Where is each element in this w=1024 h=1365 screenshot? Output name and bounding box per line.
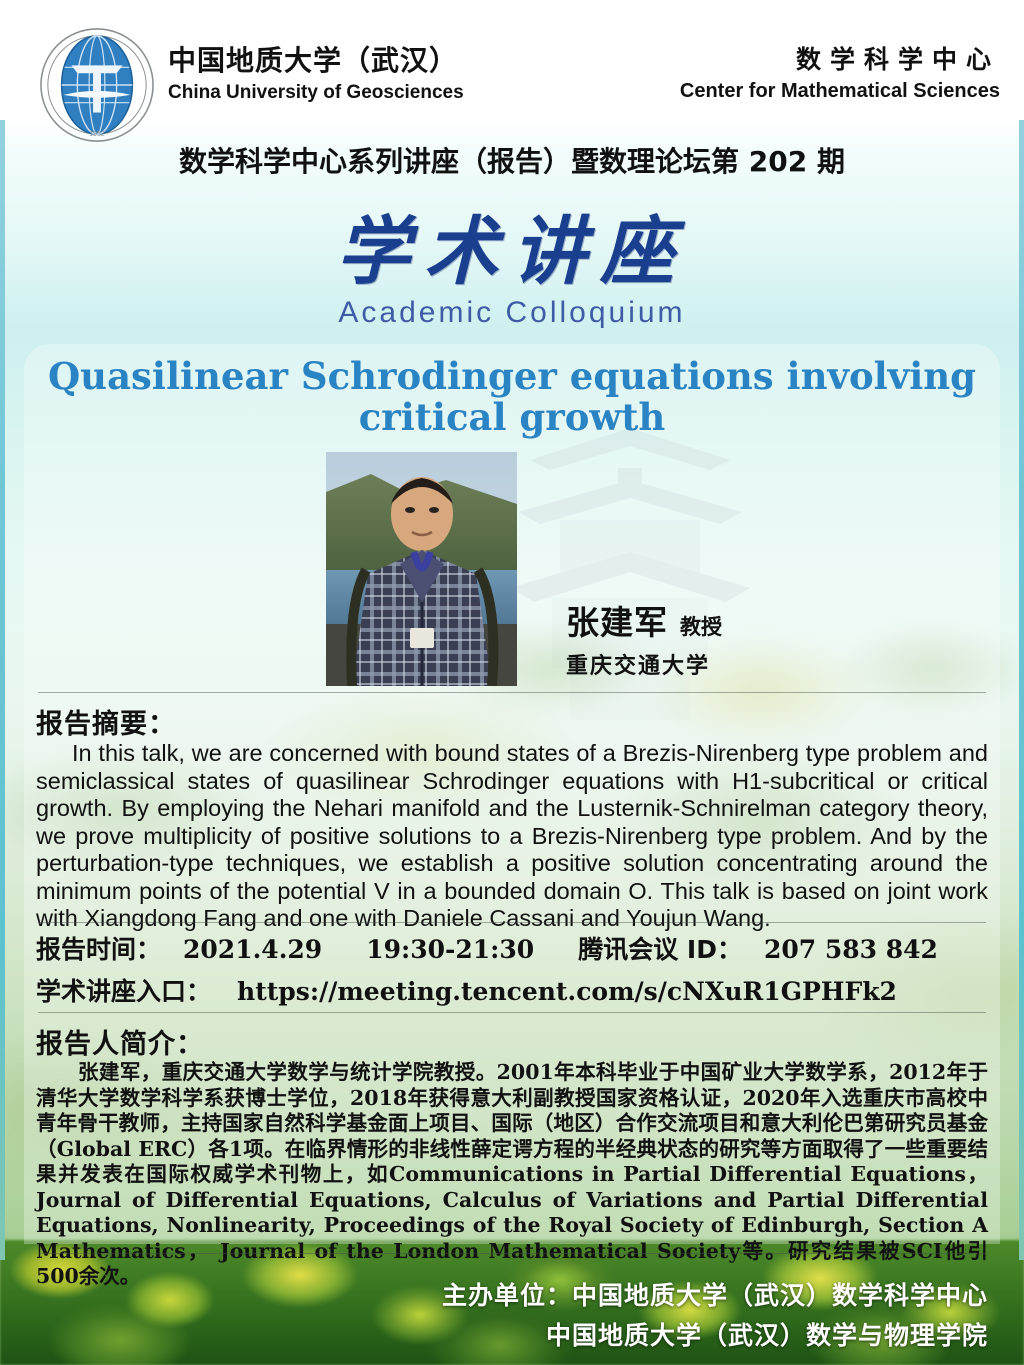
organizer-line-1: 主办单位：中国地质大学（武汉）数学科学中心 [0,1276,988,1316]
talk-time-range: 19:30-21:30 [366,935,534,964]
organizers-footer: 主办单位：中国地质大学（武汉）数学科学中心 中国地质大学（武汉）数学与物理学院 [0,1276,1024,1356]
talk-title: Quasilinear Schrodinger equations involv… [40,356,984,438]
divider-above-bio [38,1012,986,1013]
center-name-en: Center for Mathematical Sciences [680,78,1000,104]
university-name-en: China University of Geosciences [168,80,464,106]
university-name-cn: 中国地质大学（武汉） [168,44,464,78]
divider-above-abstract [38,692,986,693]
poster-header: 1952 中国地质大学（武汉） China University of Geos… [0,0,1024,120]
speaker-portrait-image [326,452,517,686]
series-line: 数学科学中心系列讲座（报告）暨数理论坛第 202 期 [0,140,1024,180]
poster-root: 1952 中国地质大学（武汉） China University of Geos… [0,0,1024,1365]
speaker-photo [326,452,517,686]
bio-label: 报告人简介： [36,1022,204,1061]
talk-date: 2021.4.29 [183,935,322,964]
speaker-affiliation: 重庆交通大学 [566,648,710,680]
divider-below-bio [38,1253,986,1254]
organizer-line-2: 中国地质大学（武汉）数学与物理学院 [0,1316,988,1356]
speaker-academic-title: 教授 [680,615,722,639]
center-identity: 数学科学中心 Center for Mathematical Sciences [680,44,1000,104]
speaker-name: 张建军 [566,603,668,642]
meeting-id-label: 腾讯会议 ID： [578,935,742,964]
center-name-cn: 数学科学中心 [680,44,1000,76]
link-label: 学术讲座入口： [36,977,211,1006]
brush-title: 学术讲座 [0,192,1024,299]
brush-subtitle: Academic Colloquium [0,296,1024,330]
speaker-name-row: 张建军教授 [566,596,722,644]
time-label: 报告时间： [36,935,161,964]
svg-text:1952: 1952 [89,131,104,138]
poster-right-edge [1019,0,1024,1260]
abstract-label: 报告摘要： [36,702,176,741]
cug-globe-logo-icon: 1952 [38,26,156,144]
divider-above-info [38,922,986,923]
bio-text: 张建军，重庆交通大学数学与统计学院教授。2001年本科毕业于中国矿业大学数学系，… [36,1060,988,1290]
meeting-id-value: 207 583 842 [764,935,938,964]
link-row: 学术讲座入口：https://meeting.tencent.com/s/cNX… [36,972,897,1008]
university-identity: 中国地质大学（武汉） China University of Geoscienc… [168,44,464,106]
meeting-url[interactable]: https://meeting.tencent.com/s/cNXuR1GPHF… [237,977,897,1006]
abstract-text: In this talk, we are concerned with boun… [36,740,988,933]
time-row: 报告时间：2021.4.2919:30-21:30腾讯会议 ID：207 583… [36,930,938,966]
poster-left-edge [0,0,5,1260]
